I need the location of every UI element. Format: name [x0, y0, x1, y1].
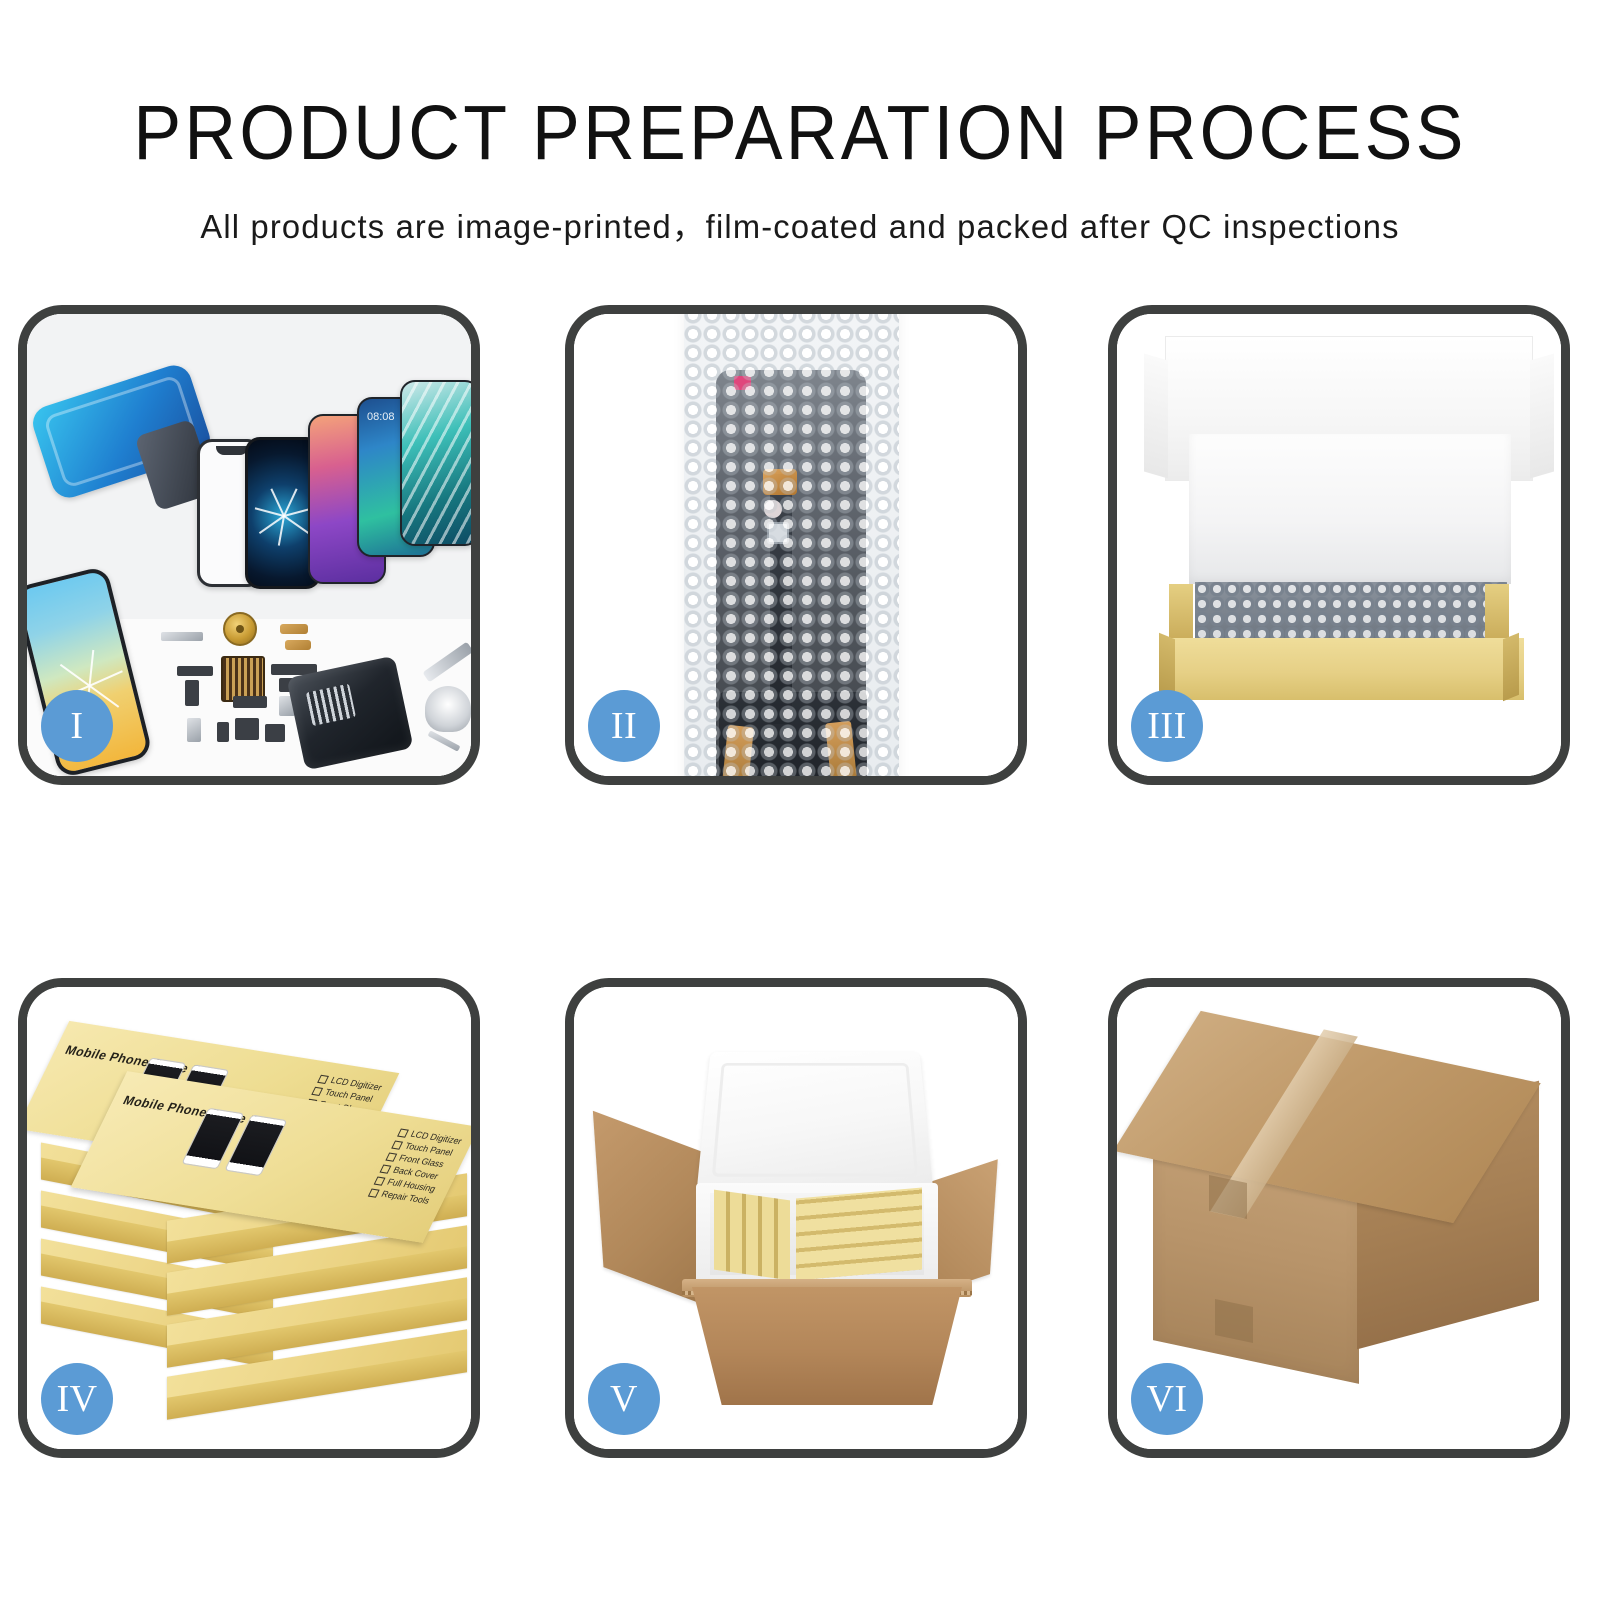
step-badge-6: VI	[1131, 1363, 1203, 1435]
mailer-box-tray-icon	[1172, 638, 1524, 700]
wireless-charging-coil-icon	[223, 612, 257, 646]
mailer-box-tray-right-edge-icon	[1503, 633, 1519, 701]
step-badge-4: IV	[41, 1363, 113, 1435]
cleaning-brush-icon	[425, 686, 471, 732]
process-step-panel-1[interactable]: 08:08	[18, 305, 480, 785]
phone-clock-label: 08:08	[367, 411, 395, 423]
process-step-panel-2[interactable]: II	[565, 305, 1027, 785]
page-title: PRODUCT PREPARATION PROCESS	[56, 95, 1544, 172]
flex-cable-icon-3	[177, 666, 213, 676]
process-step-panel-5[interactable]: V	[565, 978, 1027, 1458]
product-preparation-page: PRODUCT PREPARATION PROCESS All products…	[0, 0, 1600, 1600]
page-subtitle: All products are image-printed，film-coat…	[8, 200, 1592, 248]
packed-retail-boxes-left-icon	[714, 1190, 790, 1281]
flex-cable-icon-1	[280, 624, 308, 634]
process-step-row-1: 08:08	[18, 305, 1590, 785]
step-badge-5: V	[588, 1363, 660, 1435]
process-step-panel-4[interactable]: Mobile Phone Spare Parts LCD Digitizer T…	[18, 978, 480, 1458]
earpiece-mesh-icon	[161, 632, 203, 641]
styrofoam-lid-icon	[697, 1052, 934, 1191]
page-header: PRODUCT PREPARATION PROCESS All products…	[0, 0, 1600, 248]
mailer-box-flap-right-icon	[1485, 584, 1509, 642]
step-badge-3: III	[1131, 690, 1203, 762]
mailer-box-flap-left-icon	[1169, 584, 1193, 642]
grey-bubble-wrap-icon	[1195, 582, 1507, 642]
process-step-row-2: Mobile Phone Spare Parts LCD Digitizer T…	[18, 978, 1590, 1458]
process-step-panel-3[interactable]: III	[1108, 305, 1570, 785]
process-step-panel-6[interactable]: VI	[1108, 978, 1570, 1458]
wave-pattern-phone-icon	[400, 380, 471, 546]
process-step-grid: 08:08	[18, 305, 1590, 1458]
packed-retail-boxes-right-icon	[796, 1187, 922, 1280]
flex-cable-icon-2	[285, 640, 311, 650]
bubble-wrap-bag-front	[684, 314, 899, 776]
speaker-module-icon	[233, 696, 267, 708]
flex-cable-icon-4	[185, 680, 199, 706]
small-bracket-icon	[217, 722, 229, 742]
white-foam-sheet-icon	[1189, 434, 1511, 584]
sim-tray-icon	[187, 718, 201, 742]
taptic-engine-icon	[235, 718, 259, 740]
step-badge-1: I	[41, 690, 113, 762]
screw-plate-icon	[265, 724, 285, 742]
carton-body-icon	[692, 1287, 962, 1405]
step-badge-2: II	[588, 690, 660, 762]
